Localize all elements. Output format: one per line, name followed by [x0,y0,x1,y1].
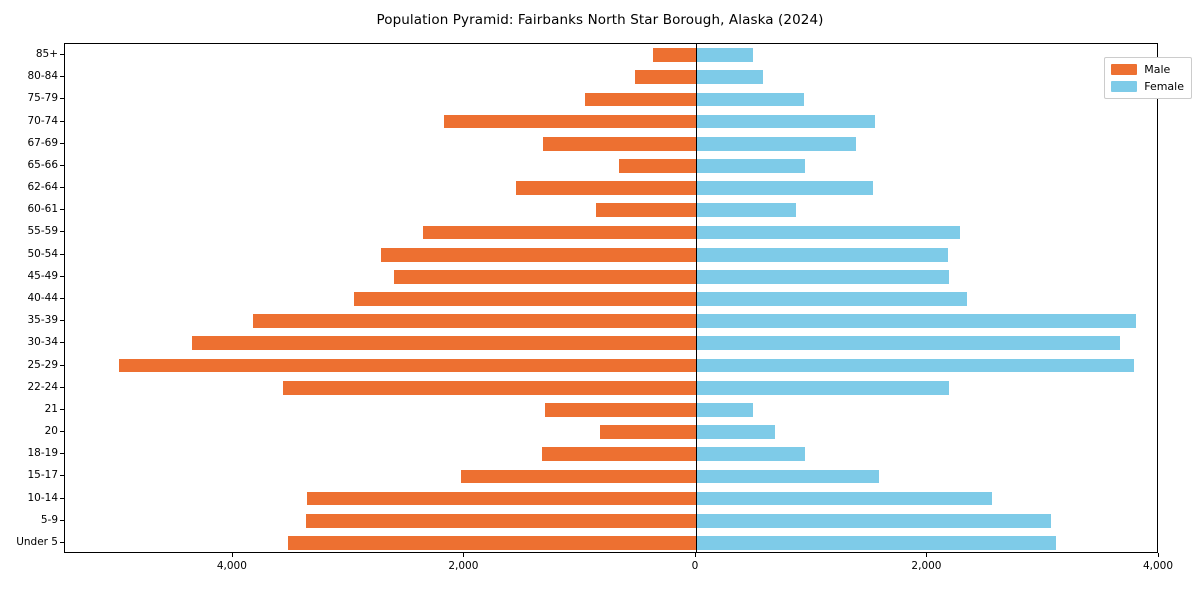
pyramid-row [65,381,1157,395]
bars-layer [65,44,1157,552]
y-axis-tick [60,98,64,99]
bar-female [696,137,856,151]
x-axis-tick [1158,553,1159,557]
y-axis-tick [60,520,64,521]
y-axis-tick [60,231,64,232]
y-axis-tick [60,276,64,277]
x-axis-tick-label: 4,000 [217,560,247,572]
bar-male [119,359,696,373]
y-axis-tick [60,209,64,210]
pyramid-row [65,203,1157,217]
bar-male [253,314,696,328]
legend-item-male[interactable]: Male [1111,63,1184,76]
y-axis-tick [60,542,64,543]
y-axis-tick-label: 55-59 [27,225,58,237]
bar-female [696,514,1051,528]
bar-male [444,115,696,129]
bar-male [283,381,696,395]
y-axis-tick [60,431,64,432]
pyramid-row [65,248,1157,262]
legend-item-female[interactable]: Female [1111,80,1184,93]
x-axis-tick [232,553,233,557]
y-axis-tick-label: 15-17 [27,469,58,481]
pyramid-row [65,447,1157,461]
bar-female [696,470,879,484]
x-axis-tick-label: 4,000 [1143,560,1173,572]
bar-male [585,93,696,107]
bar-male [619,159,696,173]
bar-male [635,70,696,84]
bar-male [461,470,696,484]
y-axis-tick [60,143,64,144]
x-axis-tick-label: 2,000 [911,560,941,572]
bar-female [696,159,805,173]
bar-female [696,48,753,62]
bar-male [306,514,696,528]
y-axis-tick-label: Under 5 [16,536,58,548]
bar-female [696,536,1056,550]
bar-female [696,447,805,461]
pyramid-row [65,292,1157,306]
bar-female [696,381,950,395]
bar-female [696,314,1136,328]
bar-male [545,403,695,417]
bar-male [653,48,696,62]
x-axis-tick [463,553,464,557]
bar-female [696,292,967,306]
y-axis-tick-label: 60-61 [27,203,58,215]
y-axis-tick-label: 67-69 [27,137,58,149]
y-axis-tick-label: 40-44 [27,292,58,304]
bar-male [596,203,696,217]
legend: MaleFemale [1104,57,1192,99]
y-axis-tick [60,187,64,188]
pyramid-row [65,359,1157,373]
y-axis-tick-label: 20 [45,425,58,437]
zero-axis-line [696,44,697,552]
bar-female [696,336,1120,350]
y-axis-tick-label: 5-9 [41,514,58,526]
y-axis-tick-label: 30-34 [27,336,58,348]
pyramid-row [65,181,1157,195]
bar-male [394,270,696,284]
pyramid-row [65,514,1157,528]
y-axis-tick-label: 22-24 [27,381,58,393]
y-axis-tick [60,121,64,122]
pyramid-row [65,159,1157,173]
x-axis-tick [695,553,696,557]
legend-label: Female [1144,80,1184,93]
y-axis-tick-label: 65-66 [27,159,58,171]
pyramid-row [65,425,1157,439]
bar-male [423,226,696,240]
pyramid-row [65,403,1157,417]
bar-male [307,492,696,506]
bar-male [543,137,696,151]
y-axis-tick-label: 75-79 [27,92,58,104]
pyramid-row [65,314,1157,328]
pyramid-row [65,70,1157,84]
y-axis-tick-label: 10-14 [27,492,58,504]
bar-female [696,226,960,240]
y-axis-tick [60,365,64,366]
y-axis-tick [60,475,64,476]
population-pyramid-figure: Population Pyramid: Fairbanks North Star… [0,0,1200,600]
y-axis-tick-label: 21 [45,403,58,415]
x-axis-tick [926,553,927,557]
y-axis-tick [60,76,64,77]
legend-swatch [1111,81,1137,92]
bar-female [696,203,796,217]
bar-female [696,248,948,262]
pyramid-row [65,270,1157,284]
bar-female [696,270,950,284]
pyramid-row [65,137,1157,151]
y-axis-tick [60,54,64,55]
bar-female [696,70,763,84]
pyramid-row [65,336,1157,350]
bar-male [600,425,696,439]
y-axis-tick [60,298,64,299]
bar-female [696,93,804,107]
y-axis-tick-label: 80-84 [27,70,58,82]
bar-female [696,115,875,129]
x-axis-tick-label: 0 [692,560,699,572]
y-axis-tick [60,409,64,410]
y-axis-tick-label: 70-74 [27,115,58,127]
bar-male [516,181,695,195]
bar-male [192,336,696,350]
pyramid-row [65,536,1157,550]
bar-male [381,248,696,262]
y-axis-tick-label: 18-19 [27,447,58,459]
pyramid-row [65,470,1157,484]
y-axis-tick-label: 25-29 [27,359,58,371]
y-axis-tick [60,254,64,255]
chart-title: Population Pyramid: Fairbanks North Star… [0,12,1200,28]
pyramid-row [65,115,1157,129]
bar-male [288,536,696,550]
y-axis-tick-label: 62-64 [27,181,58,193]
pyramid-row [65,492,1157,506]
y-axis-tick-label: 45-49 [27,270,58,282]
y-axis-tick [60,165,64,166]
bar-female [696,181,873,195]
bar-male [542,447,696,461]
y-axis-tick [60,387,64,388]
y-axis-tick [60,453,64,454]
y-axis-tick-label: 85+ [36,48,58,60]
y-axis-tick [60,498,64,499]
y-axis-tick [60,342,64,343]
pyramid-row [65,48,1157,62]
legend-label: Male [1144,63,1170,76]
plot-area [64,43,1158,553]
pyramid-row [65,93,1157,107]
y-axis-tick-label: 50-54 [27,248,58,260]
bar-female [696,492,992,506]
bar-male [354,292,696,306]
bar-female [696,425,775,439]
x-axis-tick-label: 2,000 [448,560,478,572]
legend-swatch [1111,64,1137,75]
bar-female [696,403,753,417]
pyramid-row [65,226,1157,240]
y-axis-tick [60,320,64,321]
bar-female [696,359,1134,373]
y-axis-tick-label: 35-39 [27,314,58,326]
